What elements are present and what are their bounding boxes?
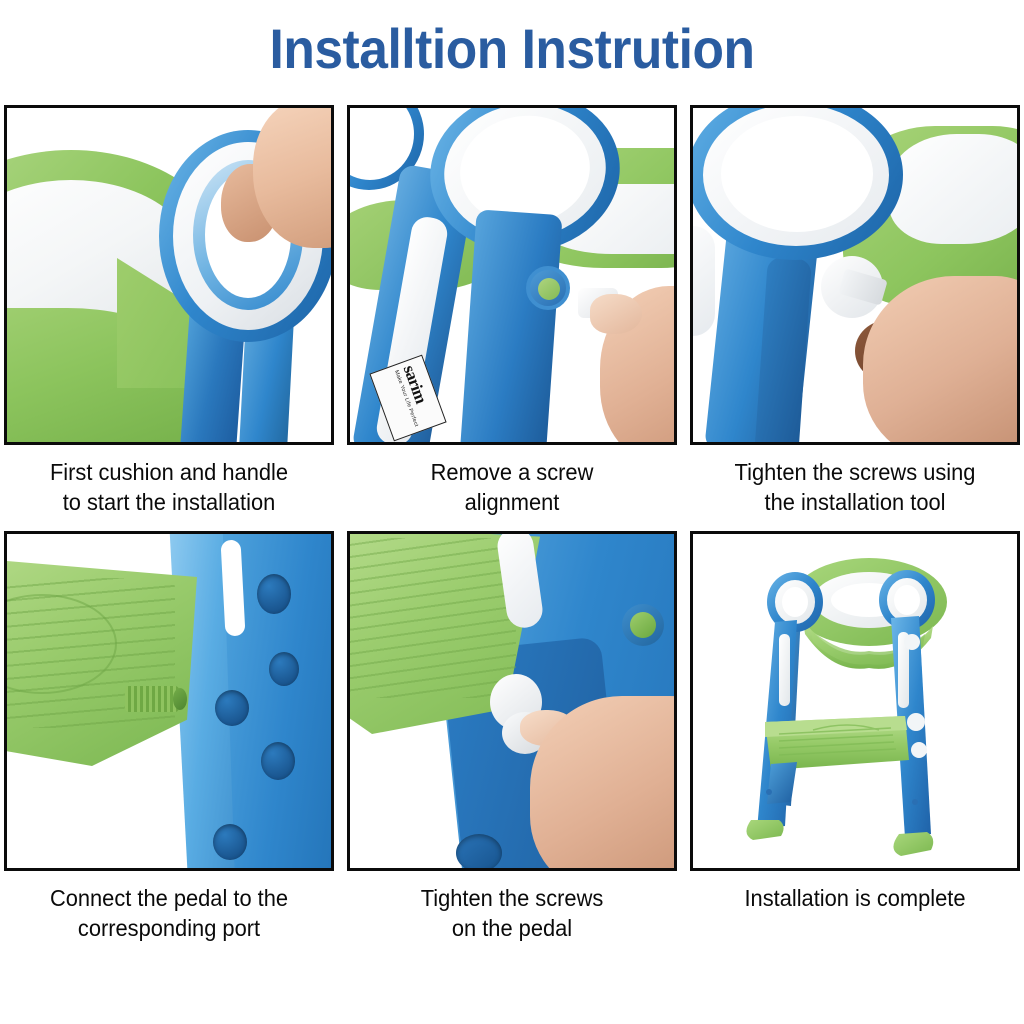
rail-hole-5 xyxy=(213,824,247,860)
step-3: Tighten the screws using the installatio… xyxy=(690,105,1020,517)
step-3-caption: Tighten the screws using the installatio… xyxy=(698,457,1012,517)
hand-finger xyxy=(590,294,642,334)
step-1-caption-line2: to start the installation xyxy=(12,487,326,517)
step-5-caption: Tighten the screws on the pedal xyxy=(355,883,669,943)
step-6-caption-line1: Installation is complete xyxy=(698,883,1012,913)
rail-hole-3 xyxy=(215,690,249,726)
threaded-post-tip xyxy=(173,688,187,710)
green-pivot-button xyxy=(538,278,560,300)
handle-ring-hole xyxy=(721,116,873,232)
step-4: Connect the pedal to the corresponding p… xyxy=(4,531,334,943)
step-4-photo xyxy=(4,531,334,871)
step-2-photo: sarim Make Your Life Perfect xyxy=(347,105,677,445)
blue-frame-arm-right xyxy=(459,209,562,442)
step-5-caption-line1: Tighten the screws xyxy=(355,883,669,913)
rail-hole-1 xyxy=(257,574,291,614)
step-2-caption-line2: alignment xyxy=(355,487,669,517)
green-port xyxy=(630,612,656,638)
step-4-caption: Connect the pedal to the corresponding p… xyxy=(12,883,326,943)
white-seat-pad xyxy=(889,134,1017,244)
step-3-photo xyxy=(690,105,1020,445)
support-hole xyxy=(456,834,502,868)
step-1-caption-line1: First cushion and handle xyxy=(12,457,326,487)
step-6-caption: Installation is complete xyxy=(698,883,1012,913)
rail-hole-4 xyxy=(261,742,295,780)
white-frame-insert xyxy=(693,226,715,336)
step-1: First cushion and handle to start the in… xyxy=(4,105,334,517)
step-6-photo xyxy=(690,531,1020,871)
step-3-caption-line1: Tighten the screws using xyxy=(698,457,1012,487)
pedal-tread-pattern xyxy=(350,538,516,698)
step-4-caption-line1: Connect the pedal to the xyxy=(12,883,326,913)
step-2: sarim Make Your Life Perfect Remove a sc… xyxy=(347,105,677,517)
steps-row-1: First cushion and handle to start the in… xyxy=(0,105,1024,517)
finished-product-illustration xyxy=(693,534,1020,871)
threaded-post xyxy=(125,686,179,712)
page-title: Installtion Instrution xyxy=(41,18,983,80)
steps-grid: First cushion and handle to start the in… xyxy=(0,105,1024,943)
installation-instruction-page: Installtion Instrution xyxy=(0,0,1024,1024)
step-2-caption-line1: Remove a screw xyxy=(355,457,669,487)
step-6: Installation is complete xyxy=(690,531,1020,943)
step-5-photo xyxy=(347,531,677,871)
step-5-caption-line2: on the pedal xyxy=(355,913,669,943)
step-1-photo xyxy=(4,105,334,445)
steps-row-2: Connect the pedal to the corresponding p… xyxy=(0,531,1024,943)
step-2-caption: Remove a screw alignment xyxy=(355,457,669,517)
step-1-caption: First cushion and handle to start the in… xyxy=(12,457,326,517)
step-4-caption-line2: corresponding port xyxy=(12,913,326,943)
step-5: Tighten the screws on the pedal xyxy=(347,531,677,943)
step-3-caption-line2: the installation tool xyxy=(698,487,1012,517)
rail-hole-2 xyxy=(269,652,299,686)
